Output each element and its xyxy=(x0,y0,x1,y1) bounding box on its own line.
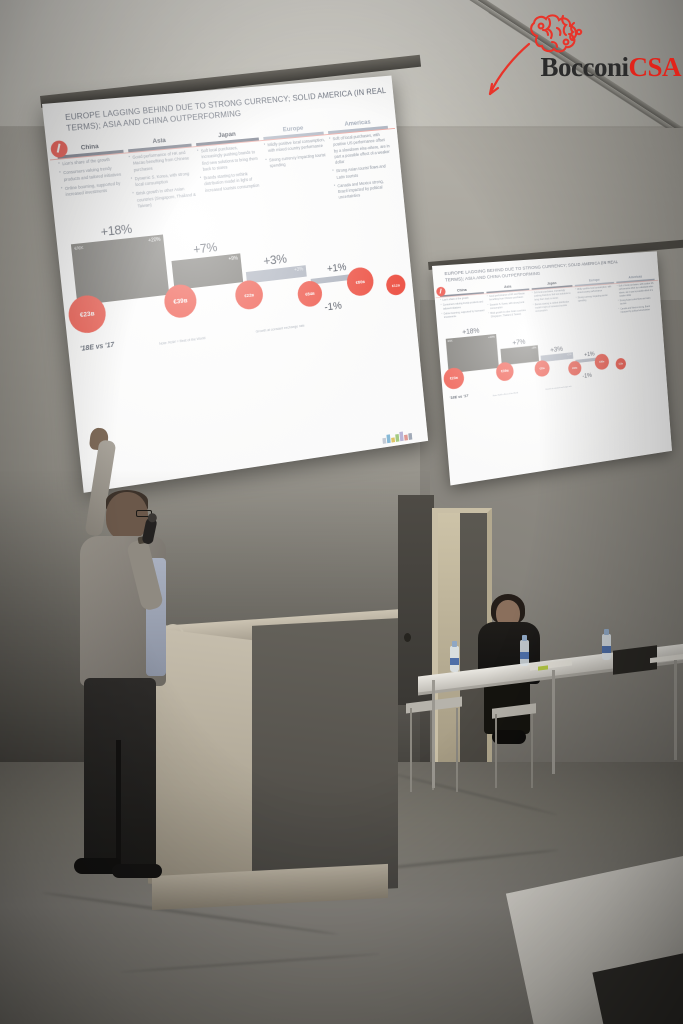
list-item: Brisk growth in other Asian countries (S… xyxy=(132,185,198,209)
constant-growth-label: +9% xyxy=(531,346,536,350)
panel-table xyxy=(418,660,683,790)
watermark-text: BocconiCSA xyxy=(540,52,681,83)
list-item: Canada and Mexico strong, Brazil impacte… xyxy=(334,178,395,202)
constant-growth-label: +3% xyxy=(294,267,304,274)
presentation-logo xyxy=(382,429,423,444)
bar-axis-note: €/€K xyxy=(74,245,84,251)
value-bubble: €84ʙ xyxy=(297,280,324,308)
constant-growth-label: +20% xyxy=(488,335,495,339)
bar-axis-note: €/€K xyxy=(447,339,452,342)
growth-label: -1% xyxy=(324,300,342,313)
list-item: Soft of local purchases, with positive U… xyxy=(329,132,391,167)
value-bubble: €39ʙ xyxy=(163,283,198,320)
footnote-left: Note: RoW = Rest of the World xyxy=(493,391,518,396)
water-bottle xyxy=(602,634,611,660)
footnote-right: Growth at constant exchange rate xyxy=(545,385,571,390)
list-item: Strong currency impacting tourist spendi… xyxy=(576,293,616,303)
value-bubble: €12ʙ xyxy=(385,274,406,297)
watermark-suffix: CSA xyxy=(628,52,681,82)
slide-content-mirror: EUROPE LAGGING BEHIND DUE TO STRONG CURR… xyxy=(432,251,672,485)
lectern-front-face xyxy=(252,618,398,896)
water-bottle xyxy=(450,646,459,672)
watermark: BocconiCSA xyxy=(481,4,681,96)
value-bubble: €39ʙ xyxy=(495,361,514,381)
waterfall-bar-chart: +18% €/€K +20% €23ʙ +7% +9% €39ʙ xyxy=(64,201,410,374)
value-bubble: €80ʙ xyxy=(346,266,375,297)
list-item: Good performance of HK and Macau benefit… xyxy=(128,150,194,174)
value-bubble: €12ʙ xyxy=(615,358,626,371)
value-bubble: €84ʙ xyxy=(568,360,582,376)
axis-label: '18E vs '17 xyxy=(449,394,468,400)
list-item: Brisk growth in other Asian countries (S… xyxy=(488,308,531,318)
list-item: Strong currency impacting tourist spendi… xyxy=(265,152,327,170)
list-item: Canada and Mexico strong, Brazil impacte… xyxy=(618,304,656,314)
leg-gap xyxy=(116,740,121,868)
value-bubble: €22ʙ xyxy=(234,279,264,311)
list-item: Soft local purchases, increasingly pushi… xyxy=(197,143,262,173)
door-knob-icon xyxy=(404,633,411,642)
footnote-left: Note: RoW = Rest of the World xyxy=(159,337,206,347)
list-item: Brands starting to rethink distribution … xyxy=(200,170,264,194)
value-bubble: €22ʙ xyxy=(534,360,550,378)
secondary-projection-screen: EUROPE LAGGING BEHIND DUE TO STRONG CURR… xyxy=(432,251,672,485)
watermark-brand: Bocconi xyxy=(540,52,628,82)
growth-label: -1% xyxy=(582,372,592,379)
value-bubble: €23ʙ xyxy=(443,367,465,390)
value-bubble: €80ʙ xyxy=(594,353,609,370)
constant-growth-label: +9% xyxy=(228,256,238,263)
axis-label: '18E vs '17 xyxy=(80,342,115,353)
waterfall-bar-chart: +18% €/€K +20% €23ʙ +7% +9% €39ʙ xyxy=(442,314,663,412)
footnote-right: Growth at constant exchange rate xyxy=(256,324,305,334)
photo-scene: EUROPE LAGGING BEHIND DUE TO STRONG CURR… xyxy=(0,0,683,1024)
water-bottle xyxy=(520,640,529,666)
list-item: Brands starting to rethink distribution … xyxy=(533,300,575,313)
constant-growth-label: +3% xyxy=(567,353,572,357)
shoe xyxy=(112,864,162,878)
list-item: Online booming, supported by increased i… xyxy=(441,309,486,320)
list-item: Soft of local purchases, with positive U… xyxy=(617,282,656,298)
logo-stem-icon xyxy=(485,42,533,98)
list-item: Online booming, supported by increased i… xyxy=(61,180,128,199)
constant-growth-label: +20% xyxy=(148,237,161,244)
presenter-with-microphone xyxy=(62,440,192,910)
